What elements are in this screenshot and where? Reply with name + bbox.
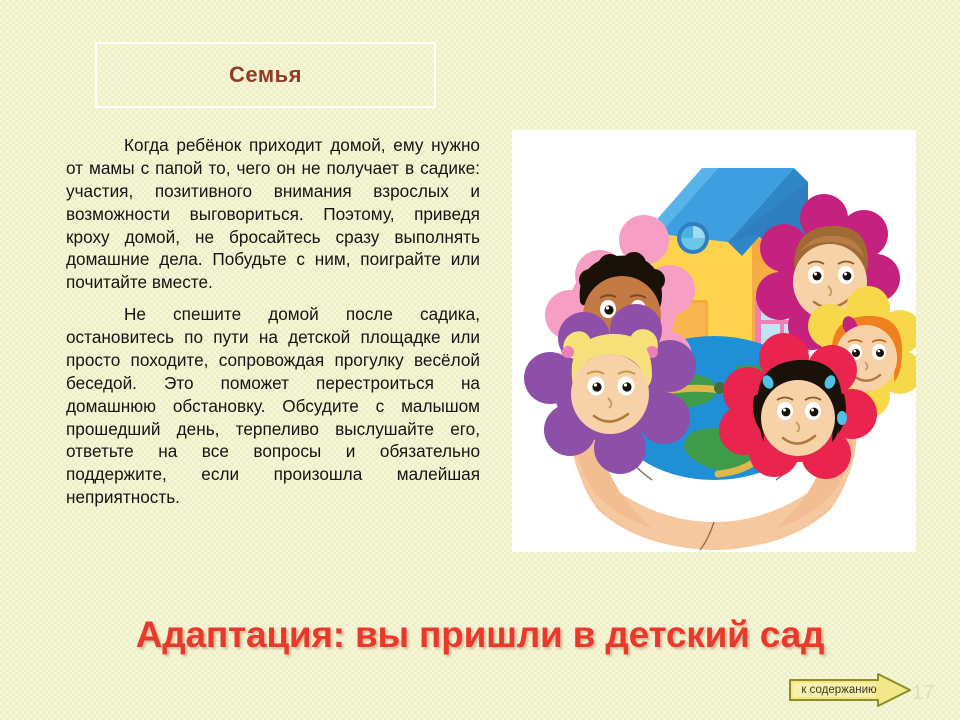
body-paragraph-1: Когда ребёнок приходит домой, ему нужно …	[66, 134, 480, 294]
slide-banner-title: Адаптация: вы пришли в детский сад	[0, 614, 960, 656]
slide-canvas: Семья Когда ребёнок приходит домой, ему …	[0, 0, 960, 720]
illustration-frame	[512, 130, 916, 552]
children-flowers-house-in-hands-illustration	[512, 130, 916, 552]
body-text-column: Когда ребёнок приходит домой, ему нужно …	[66, 134, 480, 509]
body-paragraph-2: Не спешите домой после садика, остановит…	[66, 303, 480, 509]
page-number: 17	[912, 682, 934, 705]
page-title: Семья	[229, 62, 302, 88]
to-contents-button[interactable]: к содержанию	[788, 672, 912, 708]
to-contents-label[interactable]: к содержанию	[796, 672, 882, 708]
slide-title-box: Семья	[95, 42, 436, 108]
